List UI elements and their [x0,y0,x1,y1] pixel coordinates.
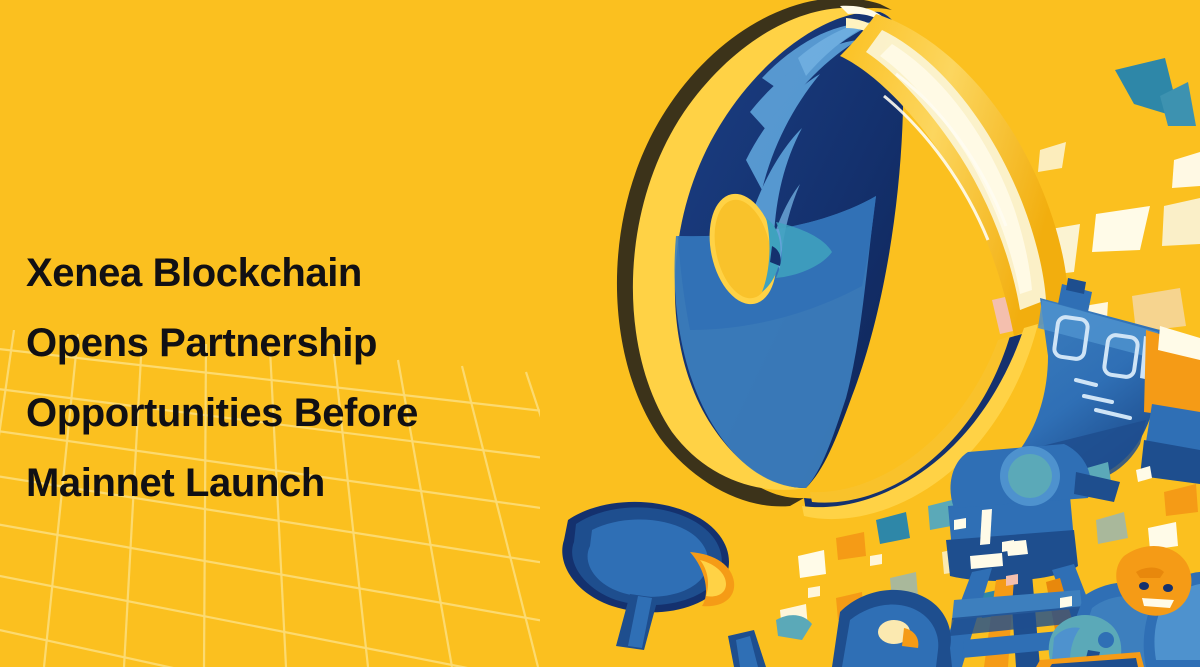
banner-headline: Xenea Blockchain Opens Partnership Oppor… [26,238,546,518]
promo-banner: Xenea Blockchain Opens Partnership Oppor… [0,0,1200,667]
megaphone-announcement-illustration [540,0,1200,667]
illustration-svg [540,0,1200,667]
megaphone-accent-strip [1140,326,1200,484]
